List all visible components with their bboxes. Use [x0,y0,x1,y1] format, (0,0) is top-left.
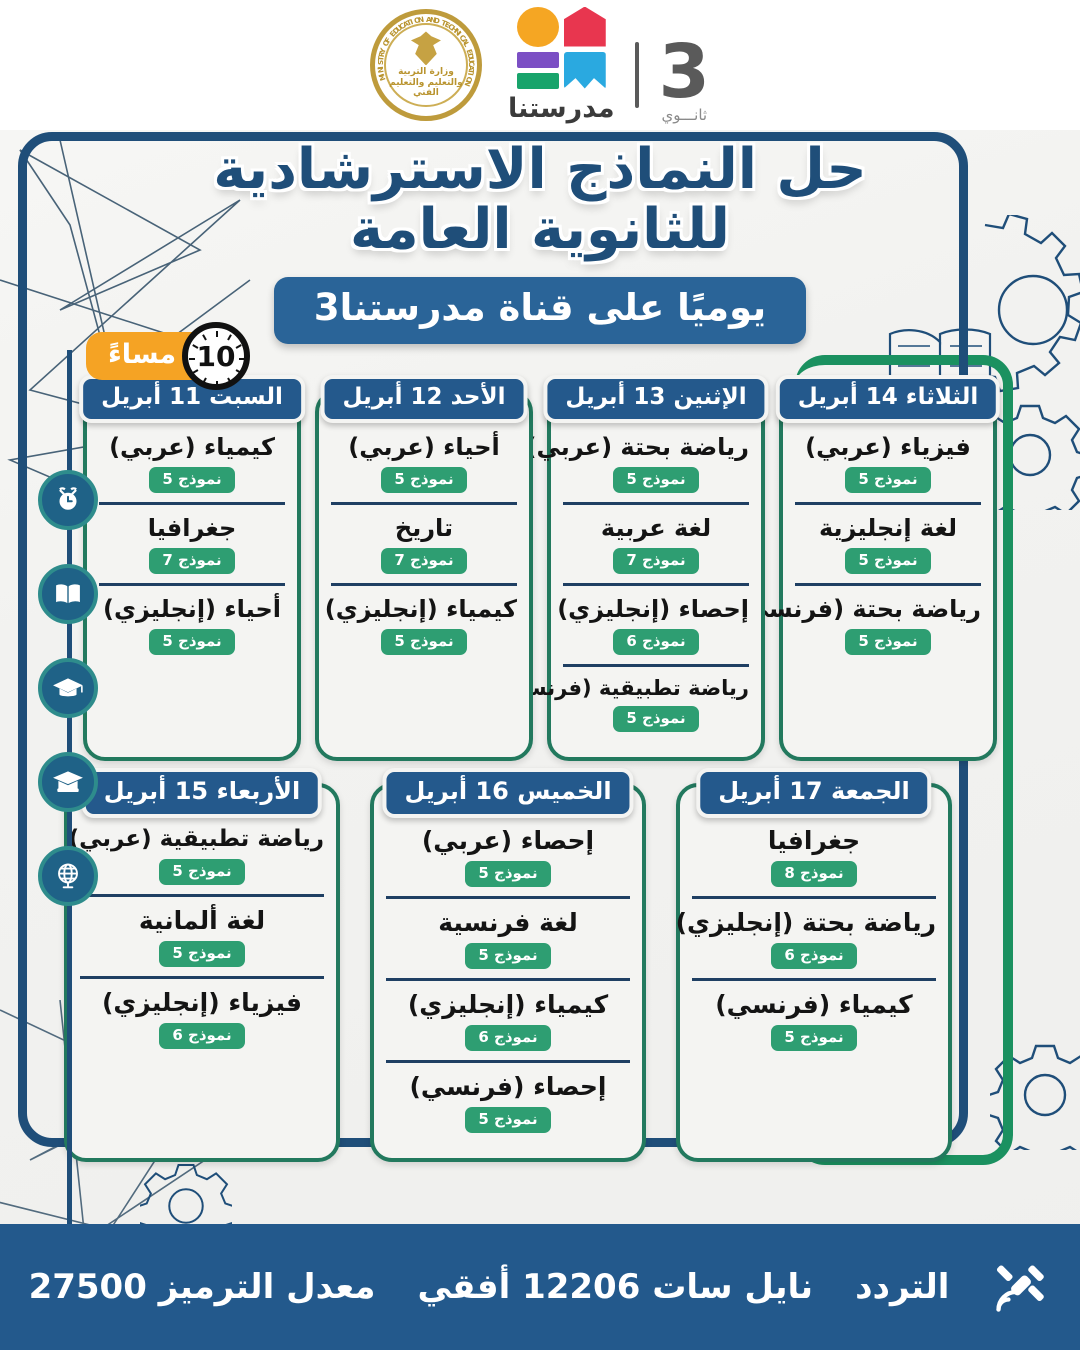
day-title: الجمعة 17 أبريل [696,768,931,818]
ministry-seal: MINISTRY OF EDUCATION AND TECHNICAL EDUC… [370,9,482,121]
subject-row[interactable]: لغة إنجليزية نموذج 5 [795,502,981,583]
model-badge: نموذج 6 [159,1023,244,1049]
model-badge: نموذج 5 [845,467,930,493]
subject-name: فيزياء (عربي) [795,434,981,461]
subject-row[interactable]: فيزياء (إنجليزي) نموذج 6 [80,976,324,1058]
day-title: الأربعاء 15 أبريل [82,768,322,818]
model-badge: نموذج 8 [771,861,856,887]
subject-name: رياضة بحتة (عربي) [563,434,749,461]
subject-name: رياضة بحتة (فرنسي) [795,596,981,623]
model-badge: نموذج 6 [613,629,698,655]
model-badge: نموذج 5 [159,859,244,885]
subject-name: أحياء (إنجليزي) [99,596,285,623]
globe-icon [38,846,98,906]
graduation-cap-icon [38,658,98,718]
seal-arabic-text: وزارة التربية والتعليم والتعليم الفني [386,67,466,98]
grade-number-block: 3 ثانـــوي [659,41,711,124]
day-card[interactable]: الخميس 16 أبريل إحصاء (عربي) نموذج 5 لغة… [370,783,646,1162]
subject-row[interactable]: أحياء (إنجليزي) نموذج 5 [99,583,285,664]
day-card[interactable]: الجمعة 17 أبريل جغرافيا نموذج 8 رياضة بح… [676,783,952,1162]
subject-row[interactable]: رياضة تطبيقية (فرنسي) نموذج 5 [563,664,749,742]
clock-icon: 10 [182,322,250,390]
alarm-clock-icon [38,470,98,530]
subject-row[interactable]: رياضة بحتة (إنجليزي) نموذج 6 [692,896,936,978]
clock-ticks [188,328,244,384]
day-card[interactable]: الثلاثاء 14 أبريل فيزياء (عربي) نموذج 5 … [779,390,997,761]
subject-row[interactable]: رياضة بحتة (عربي) نموذج 5 [563,424,749,502]
subject-name: لغة ألمانية [80,907,324,935]
header-titles: حل النماذج الاسترشادية للثانوية العامة ي… [0,140,1080,344]
model-badge: نموذج 6 [465,1025,550,1051]
model-badge: نموذج 5 [613,706,698,732]
subject-list: فيزياء (عربي) نموذج 5 لغة إنجليزية نموذج… [795,424,981,664]
day-title: الثلاثاء 14 أبريل [776,375,1000,423]
subject-row[interactable]: إحصاء (إنجليزي) نموذج 6 [563,583,749,664]
subject-row[interactable]: لغة عربية نموذج 7 [563,502,749,583]
day-title: الإثنين 13 أبريل [543,375,768,423]
satellite-icon [991,1257,1051,1317]
subject-row[interactable]: لغة ألمانية نموذج 5 [80,894,324,976]
main-title-line1: حل النماذج الاسترشادية [0,140,1080,200]
subject-name: رياضة تطبيقية (فرنسي) [563,677,749,701]
grade-number: 3 [659,41,711,104]
subject-name: كيمياء (إنجليزي) [331,596,517,623]
subject-row[interactable]: كيمياء (عربي) نموذج 5 [99,424,285,502]
model-badge: نموذج 5 [465,1107,550,1133]
subject-row[interactable]: رياضة بحتة (فرنسي) نموذج 5 [795,583,981,664]
schedule-row-1: الثلاثاء 14 أبريل فيزياء (عربي) نموذج 5 … [0,390,1080,761]
eagle-emblem-icon [411,31,441,65]
subject-row[interactable]: إحصاء (عربي) نموذج 5 [386,817,630,896]
model-badge: نموذج 5 [613,467,698,493]
mark-green-bar [517,73,559,89]
madrasatna-logo: 3 ثانـــوي مدرستنا [508,7,710,124]
subject-list: كيمياء (عربي) نموذج 5 جغرافيا نموذج 7 أح… [99,424,285,664]
subject-list: رياضة بحتة (عربي) نموذج 5 لغة عربية نموذ… [563,424,749,741]
subject-name: جغرافيا [99,515,285,542]
day-card[interactable]: الإثنين 13 أبريل رياضة بحتة (عربي) نموذج… [547,390,765,761]
subject-list: رياضة تطبيقية (عربي) نموذج 5 لغة ألمانية… [80,817,324,1058]
subject-row[interactable]: إحصاء (فرنسي) نموذج 5 [386,1060,630,1142]
subject-row[interactable]: أحياء (عربي) نموذج 5 [331,424,517,502]
channel-mark-grid [517,7,606,89]
subject-name: لغة عربية [563,515,749,542]
model-badge: نموذج 7 [613,548,698,574]
subject-name: إحصاء (عربي) [386,827,630,855]
subject-list: أحياء (عربي) نموذج 5 تاريخ نموذج 7 كيميا… [331,424,517,664]
subject-name: تاريخ [331,515,517,542]
frequency-label: التردد [855,1267,949,1307]
grade-label: ثانـــوي [662,106,708,124]
logo-divider [635,42,639,108]
subject-name: رياضة تطبيقية (عربي) [80,827,324,853]
subject-list: جغرافيا نموذج 8 رياضة بحتة (إنجليزي) نمو… [692,817,936,1060]
footer-frequency-bar: التردد نايل سات 12206 أفقي معدل الترميز … [0,1224,1080,1350]
infographic-page: 3 ثانـــوي مدرستنا MINISTRY OF EDUCATION… [0,0,1080,1350]
model-badge: نموذج 5 [465,943,550,969]
subject-list: إحصاء (عربي) نموذج 5 لغة فرنسية نموذج 5 … [386,817,630,1142]
schedule-board: الثلاثاء 14 أبريل فيزياء (عربي) نموذج 5 … [0,390,1080,1162]
side-icon-rail [38,470,98,940]
schedule-row-2: الجمعة 17 أبريل جغرافيا نموذج 8 رياضة بح… [0,783,1080,1162]
channel-name: مدرستنا [508,93,615,124]
model-badge: نموذج 5 [771,1025,856,1051]
model-badge: نموذج 5 [159,941,244,967]
subject-row[interactable]: لغة فرنسية نموذج 5 [386,896,630,978]
subject-name: كيمياء (إنجليزي) [386,991,630,1019]
mark-house-shape [564,7,606,47]
subject-row[interactable]: كيمياء (فرنسي) نموذج 5 [692,978,936,1060]
mark-purple-bar [517,52,559,68]
model-badge: نموذج 7 [381,548,466,574]
day-card[interactable]: السبت 11 أبريل كيمياء (عربي) نموذج 5 جغر… [83,390,301,761]
subject-name: لغة إنجليزية [795,515,981,542]
open-book-icon [38,564,98,624]
subject-row[interactable]: جغرافيا نموذج 7 [99,502,285,583]
subject-name: كيمياء (عربي) [99,434,285,461]
model-badge: نموذج 5 [149,629,234,655]
day-card[interactable]: الأربعاء 15 أبريل رياضة تطبيقية (عربي) ن… [64,783,340,1162]
subject-name: أحياء (عربي) [331,434,517,461]
subject-name: جغرافيا [692,827,936,855]
main-title-line2: للثانوية العامة [0,200,1080,260]
symbol-rate: معدل الترميز 27500 [29,1267,376,1307]
model-badge: نموذج 5 [465,861,550,887]
subject-row[interactable]: جغرافيا نموذج 8 [692,817,936,896]
subject-row[interactable]: تاريخ نموذج 7 [331,502,517,583]
model-badge: نموذج 5 [381,467,466,493]
subtitle-pill: يوميًا على قناة مدرستنا3 [274,277,806,344]
graduation-cap-book-icon [38,752,98,812]
day-title: الأحد 12 أبريل [321,375,528,423]
broadcast-time-badge: مساءً 10 [86,332,228,380]
subject-name: كيمياء (فرنسي) [692,991,936,1019]
channel-mark: مدرستنا [508,7,615,124]
subject-row[interactable]: كيمياء (إنجليزي) نموذج 6 [386,978,630,1060]
day-title: الخميس 16 أبريل [382,768,633,818]
subject-name: رياضة بحتة (إنجليزي) [692,909,936,937]
day-card[interactable]: الأحد 12 أبريل أحياء (عربي) نموذج 5 تاري… [315,390,533,761]
seal-inner-ring: وزارة التربية والتعليم والتعليم الفني [384,23,468,107]
model-badge: نموذج 6 [771,943,856,969]
mark-circle-shape [517,7,559,47]
subject-name: إحصاء (فرنسي) [386,1073,630,1101]
model-badge: نموذج 5 [381,629,466,655]
subject-name: إحصاء (إنجليزي) [563,596,749,623]
subject-name: فيزياء (إنجليزي) [80,989,324,1017]
model-badge: نموذج 5 [845,548,930,574]
subject-row[interactable]: كيمياء (إنجليزي) نموذج 5 [331,583,517,664]
logo-strip: 3 ثانـــوي مدرستنا MINISTRY OF EDUCATION… [0,0,1080,130]
subject-row[interactable]: فيزياء (عربي) نموذج 5 [795,424,981,502]
subject-name: لغة فرنسية [386,909,630,937]
satellite-info: نايل سات 12206 أفقي [417,1267,813,1307]
model-badge: نموذج 5 [149,467,234,493]
model-badge: نموذج 5 [845,629,930,655]
model-badge: نموذج 7 [149,548,234,574]
mark-blue-shape [564,52,606,89]
subject-row[interactable]: رياضة تطبيقية (عربي) نموذج 5 [80,817,324,894]
